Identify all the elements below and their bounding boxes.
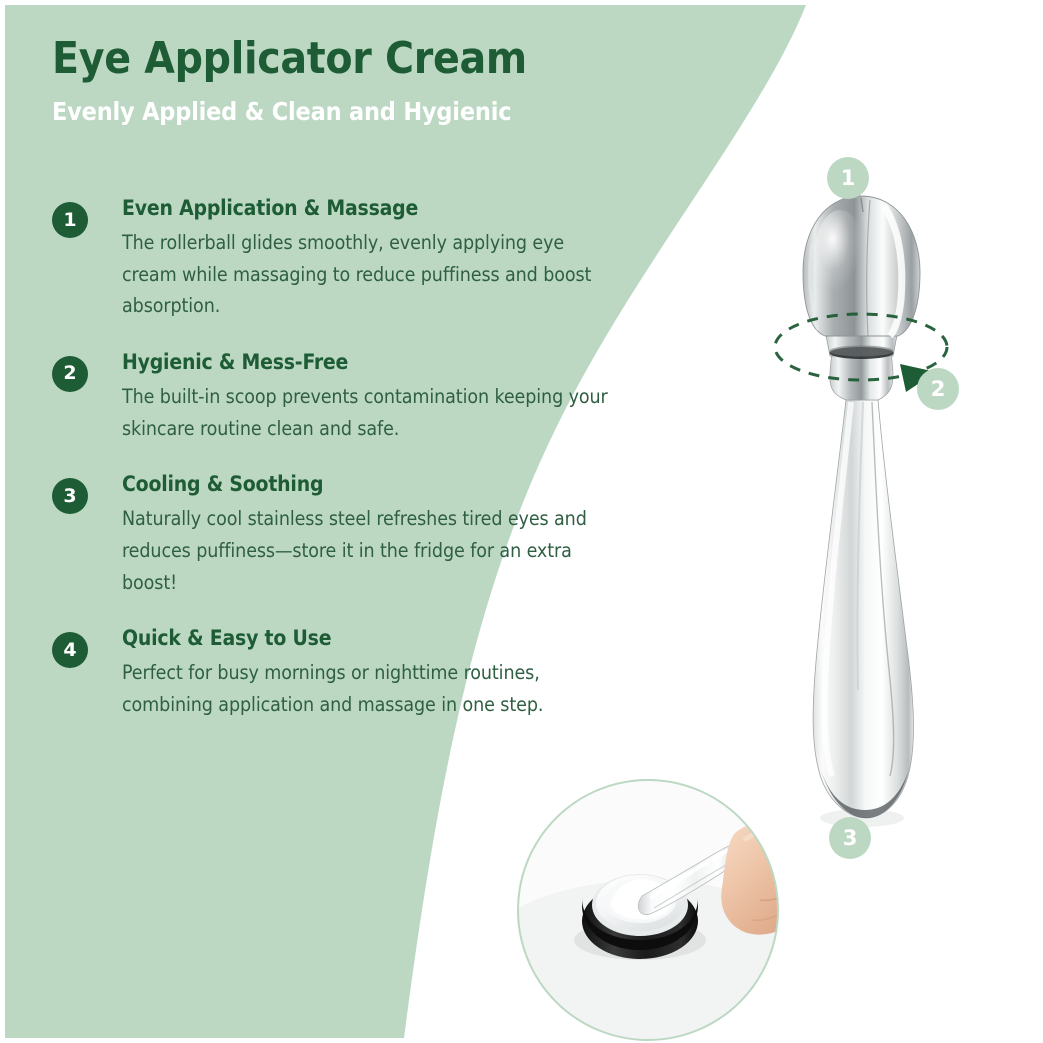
header-block: Eye Applicator Cream Evenly Applied & Cl… <box>52 36 692 126</box>
feature-heading-2: Hygienic & Mess-Free <box>122 350 612 375</box>
infographic-canvas: Eye Applicator Cream Evenly Applied & Cl… <box>0 0 1043 1043</box>
feature-item-4: 4 Quick & Easy to Use Perfect for busy m… <box>52 626 612 720</box>
feature-number-badge-3: 3 <box>52 478 88 514</box>
callout-badge-2: 2 <box>917 368 959 410</box>
feature-description-4: Perfect for busy mornings or nighttime r… <box>122 657 612 720</box>
feature-list: 1 Even Application & Massage The rollerb… <box>52 196 612 749</box>
feature-description-1: The rollerball glides smoothly, evenly a… <box>122 227 612 322</box>
feature-body-4: Quick & Easy to Use Perfect for busy mor… <box>122 626 612 720</box>
feature-body-1: Even Application & Massage The rollerbal… <box>122 196 612 322</box>
feature-heading-3: Cooling & Soothing <box>122 472 612 497</box>
feature-heading-1: Even Application & Massage <box>122 196 612 221</box>
feature-number-badge-2: 2 <box>52 356 88 392</box>
feature-item-3: 3 Cooling & Soothing Naturally cool stai… <box>52 472 612 598</box>
feature-body-2: Hygienic & Mess-Free The built-in scoop … <box>122 350 612 444</box>
callout-badge-3: 3 <box>829 817 871 859</box>
feature-description-3: Naturally cool stainless steel refreshes… <box>122 503 612 598</box>
feature-heading-4: Quick & Easy to Use <box>122 626 612 651</box>
feature-item-1: 1 Even Application & Massage The rollerb… <box>52 196 612 322</box>
page-subtitle: Evenly Applied & Clean and Hygienic <box>52 98 692 126</box>
feature-number-badge-4: 4 <box>52 632 88 668</box>
callout-badge-1: 1 <box>827 157 869 199</box>
feature-body-3: Cooling & Soothing Naturally cool stainl… <box>122 472 612 598</box>
feature-number-badge-1: 1 <box>52 202 88 238</box>
page-title: Eye Applicator Cream <box>52 36 692 82</box>
feature-item-2: 2 Hygienic & Mess-Free The built-in scoo… <box>52 350 612 444</box>
feature-description-2: The built-in scoop prevents contaminatio… <box>122 381 612 444</box>
